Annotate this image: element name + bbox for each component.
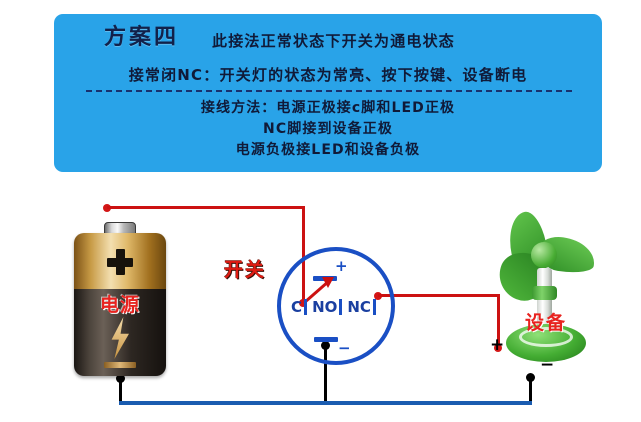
switch-pin-no-tick xyxy=(339,299,342,315)
wiring-line-2: NC脚接到设备正极 xyxy=(54,119,602,140)
battery-label: 电源 xyxy=(74,290,166,317)
wiring-line-3: 电源负极接LED和设备负极 xyxy=(54,140,602,161)
panel-divider xyxy=(86,90,572,92)
wiring-line-1: 接线方法：电源正极接c脚和LED正极 xyxy=(54,98,602,119)
battery-strip xyxy=(104,362,136,368)
device-label: 设备 xyxy=(503,308,589,335)
device-fan: 设备 + − xyxy=(487,212,605,380)
lead-battery-negative xyxy=(119,377,122,404)
device-plus-label: + xyxy=(490,338,504,352)
nc-description: 接常闭NC：开关灯的状态为常亮、按下按键、设备断电 xyxy=(80,64,576,85)
fan-stem-collar xyxy=(532,286,557,300)
switch-pin-no: NO xyxy=(312,299,347,315)
wiring-instructions: 接线方法：电源正极接c脚和LED正极 NC脚接到设备正极 电源负极接LED和设备… xyxy=(54,98,602,161)
switch-pin-row: C NO NC xyxy=(277,296,395,318)
switch-pin-nc: NC xyxy=(347,299,381,315)
device-minus-label: − xyxy=(540,358,554,372)
switch-pin-c-tick xyxy=(304,299,307,315)
panel-headline: 此接法正常状态下开关为通电状态 xyxy=(212,30,455,51)
battery: 电源 xyxy=(74,222,166,376)
switch-label: 开关 xyxy=(224,255,266,282)
led-cathode-bar xyxy=(314,337,338,342)
led-plus-label: + xyxy=(335,260,348,272)
led-anode-bar xyxy=(313,276,337,281)
info-panel: 方案四 此接法正常状态下开关为通电状态 接常闭NC：开关灯的状态为常亮、按下按键… xyxy=(54,14,602,172)
switch-pin-no-label: NO xyxy=(312,300,337,315)
wire-battery-to-switch-horizontal xyxy=(107,206,305,209)
switch-pin-nc-tick xyxy=(373,299,376,315)
plan-title: 方案四 xyxy=(104,19,179,51)
switch-pin-nc-label: NC xyxy=(347,300,371,315)
wire-nc-to-device-horizontal xyxy=(378,294,500,297)
diagram-canvas: 方案四 此接法正常状态下开关为通电状态 接常闭NC：开关灯的状态为常亮、按下按键… xyxy=(0,0,641,422)
switch-pin-c: C xyxy=(291,299,312,315)
fan-hub xyxy=(531,242,557,268)
led-minus-label: − xyxy=(338,342,351,354)
battery-body: 电源 xyxy=(74,233,166,376)
switch-pin-c-label: C xyxy=(291,300,302,315)
panel-title-row: 方案四 此接法正常状态下开关为通电状态 xyxy=(54,14,602,58)
negative-bus-rail xyxy=(119,401,532,405)
battery-plus-icon xyxy=(107,249,133,275)
lead-device-negative xyxy=(529,377,532,404)
